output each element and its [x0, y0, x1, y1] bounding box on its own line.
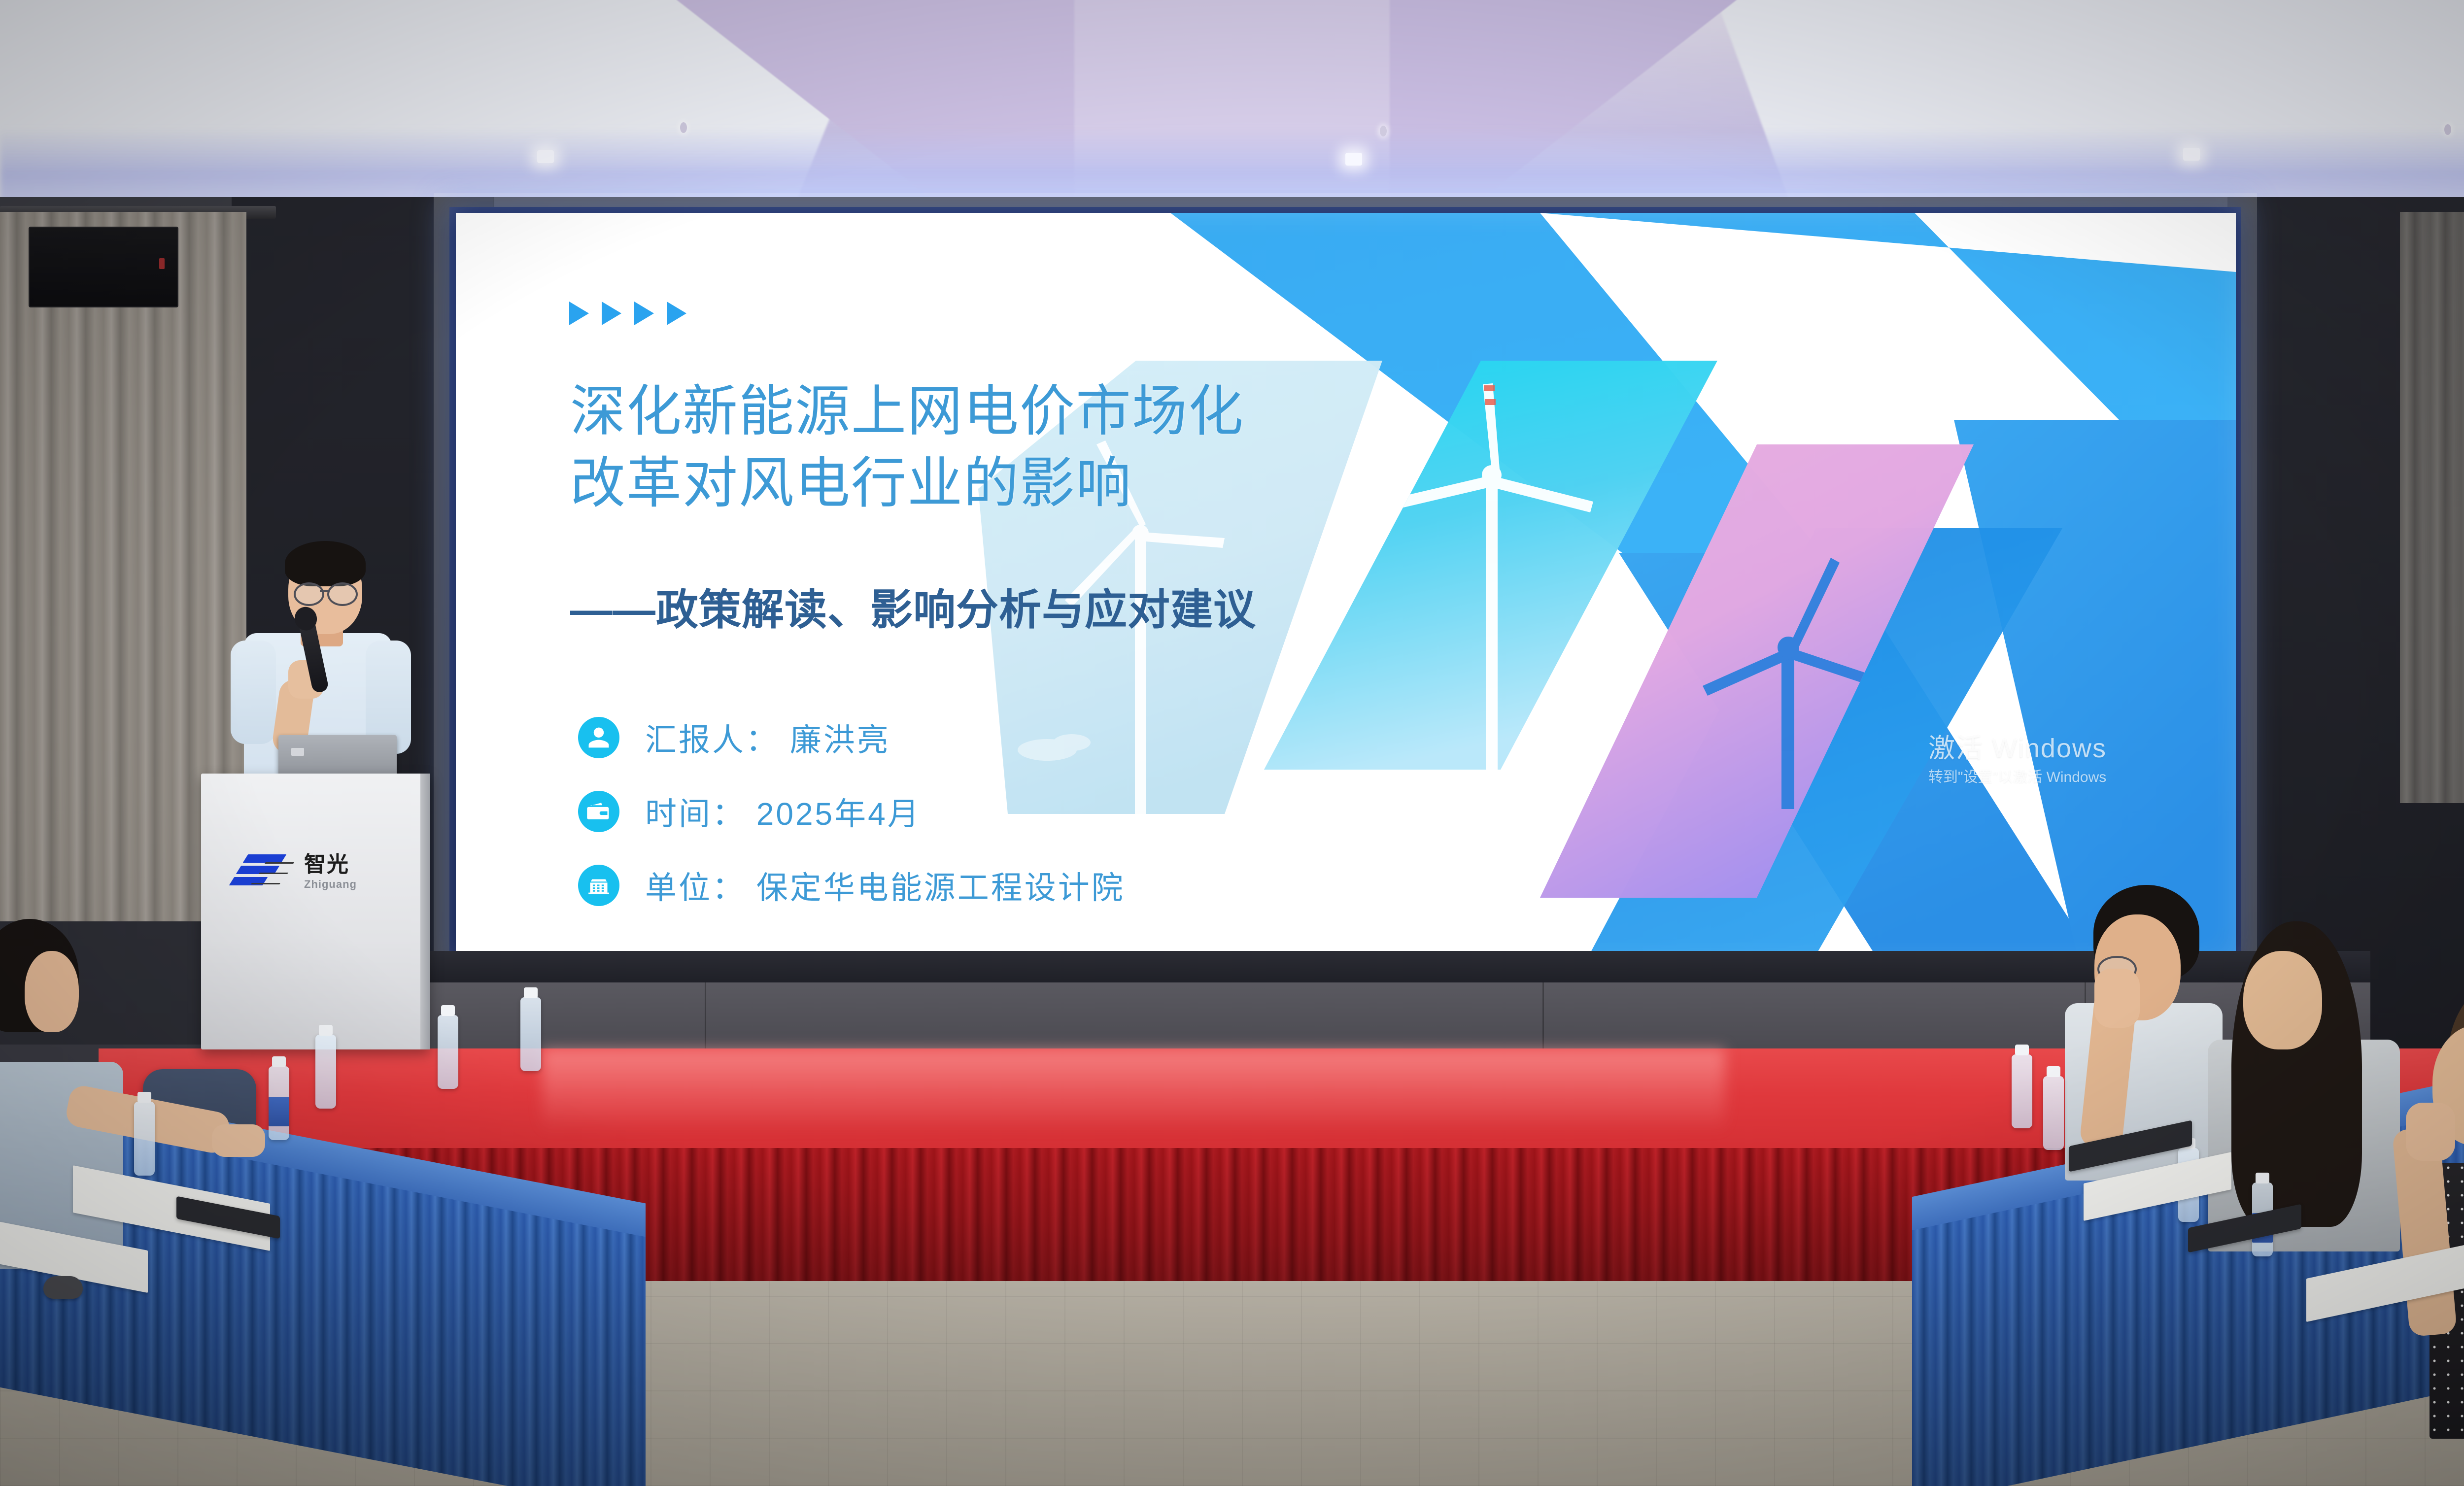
- audience-r1-hand: [2094, 969, 2140, 1028]
- triangle-right-icon: [634, 302, 654, 325]
- person-icon: [578, 717, 619, 758]
- ceiling-spot: [1380, 126, 1387, 136]
- bottle-cap: [2047, 1066, 2060, 1077]
- bottle-cap: [441, 1005, 455, 1016]
- building-icon: [578, 865, 619, 906]
- zhiguang-logo-text: 智光 Zhiguang: [304, 854, 357, 890]
- podium-edge: [420, 774, 430, 1049]
- stage-top-rail: [212, 951, 2370, 985]
- audience-left-hand: [212, 1124, 265, 1157]
- meta-row-presenter: 汇报人： 廉洪亮: [578, 701, 1125, 775]
- slide-subtitle: ——政策解读、影响分析与应对建议: [570, 585, 1556, 636]
- bottle-label: [269, 1097, 289, 1126]
- slide-title-line2: 改革对风电行业的影响: [570, 447, 1506, 519]
- water-bottle: [2012, 1054, 2032, 1128]
- triangle-right-icon: [569, 302, 589, 325]
- ceiling-spot: [2444, 124, 2451, 135]
- bottle-cap: [319, 1025, 333, 1036]
- conference-hall-photo: 深化新能源上网电价市场化 改革对风电行业的影响 ——政策解读、影响分析与应对建议…: [0, 0, 2464, 1486]
- audience-r3-hand: [2406, 1103, 2455, 1161]
- logo-pinyin-name: Zhiguang: [304, 879, 357, 890]
- ceiling: [0, 0, 2464, 212]
- speaker-box: [29, 227, 178, 307]
- bottle-cap: [272, 1056, 286, 1067]
- stage-wall-seam: [1542, 982, 1544, 1051]
- bottle-cap: [524, 987, 538, 998]
- zhiguang-logo-mark: [231, 852, 292, 891]
- ceiling-downlight: [2183, 148, 2200, 161]
- stage-carpet-highlight: [542, 1048, 1725, 1132]
- podium: 智光 Zhiguang: [201, 774, 430, 1049]
- slide-title-line1: 深化新能源上网电价市场化: [570, 375, 1506, 447]
- arrow-row: [569, 302, 686, 325]
- presenter-glasses-right-lens: [327, 582, 358, 606]
- meta-row-date: 时间： 2025年4月: [578, 775, 1125, 848]
- triangle-right-icon: [667, 302, 686, 325]
- bottle-cap: [2015, 1045, 2029, 1055]
- ceiling-downlight: [1345, 153, 1362, 166]
- presentation-slide: 深化新能源上网电价市场化 改革对风电行业的影响 ——政策解读、影响分析与应对建议…: [456, 213, 2236, 955]
- presenter-arm-left: [231, 641, 276, 744]
- bottle-cap: [2256, 1173, 2269, 1183]
- water-bottle: [520, 997, 541, 1071]
- meta-text-date: 时间： 2025年4月: [645, 789, 921, 834]
- logo-chinese-name: 智光: [304, 854, 357, 876]
- presenter-glasses-left-lens: [294, 582, 324, 606]
- meta-row-org: 单位： 保定华电能源工程设计院: [578, 848, 1125, 922]
- water-bottle: [438, 1015, 458, 1089]
- bottle-cap: [137, 1092, 151, 1103]
- wallet-icon: [578, 791, 619, 832]
- meta-text-presenter: 汇报人： 廉洪亮: [645, 715, 890, 760]
- presenter-glasses-bridge: [320, 590, 329, 592]
- audience-r2-head: [2243, 951, 2322, 1049]
- audience-left-head: [25, 951, 79, 1032]
- computer-mouse: [43, 1276, 83, 1299]
- stage-wall-seam: [705, 982, 706, 1051]
- podium-logo: 智光 Zhiguang: [231, 852, 357, 891]
- water-bottle: [134, 1102, 155, 1176]
- water-bottle: [315, 1035, 336, 1109]
- speaker-led-icon: [159, 258, 165, 269]
- curtain-right: [2400, 212, 2464, 803]
- laptop-logo: [291, 748, 304, 756]
- triangle-right-icon: [602, 302, 621, 325]
- slide-title: 深化新能源上网电价市场化 改革对风电行业的影响: [570, 375, 1506, 519]
- slide-meta-list: 汇报人： 廉洪亮 时间： 2025年4月 单位： 保定华电能源工程设计院: [578, 701, 1125, 922]
- presenter-hair: [285, 541, 366, 586]
- meta-text-org: 单位： 保定华电能源工程设计院: [645, 863, 1125, 908]
- water-bottle: [269, 1066, 289, 1140]
- ceiling-downlight: [537, 150, 554, 163]
- water-bottle: [2043, 1076, 2064, 1150]
- ceiling-spot: [680, 122, 687, 133]
